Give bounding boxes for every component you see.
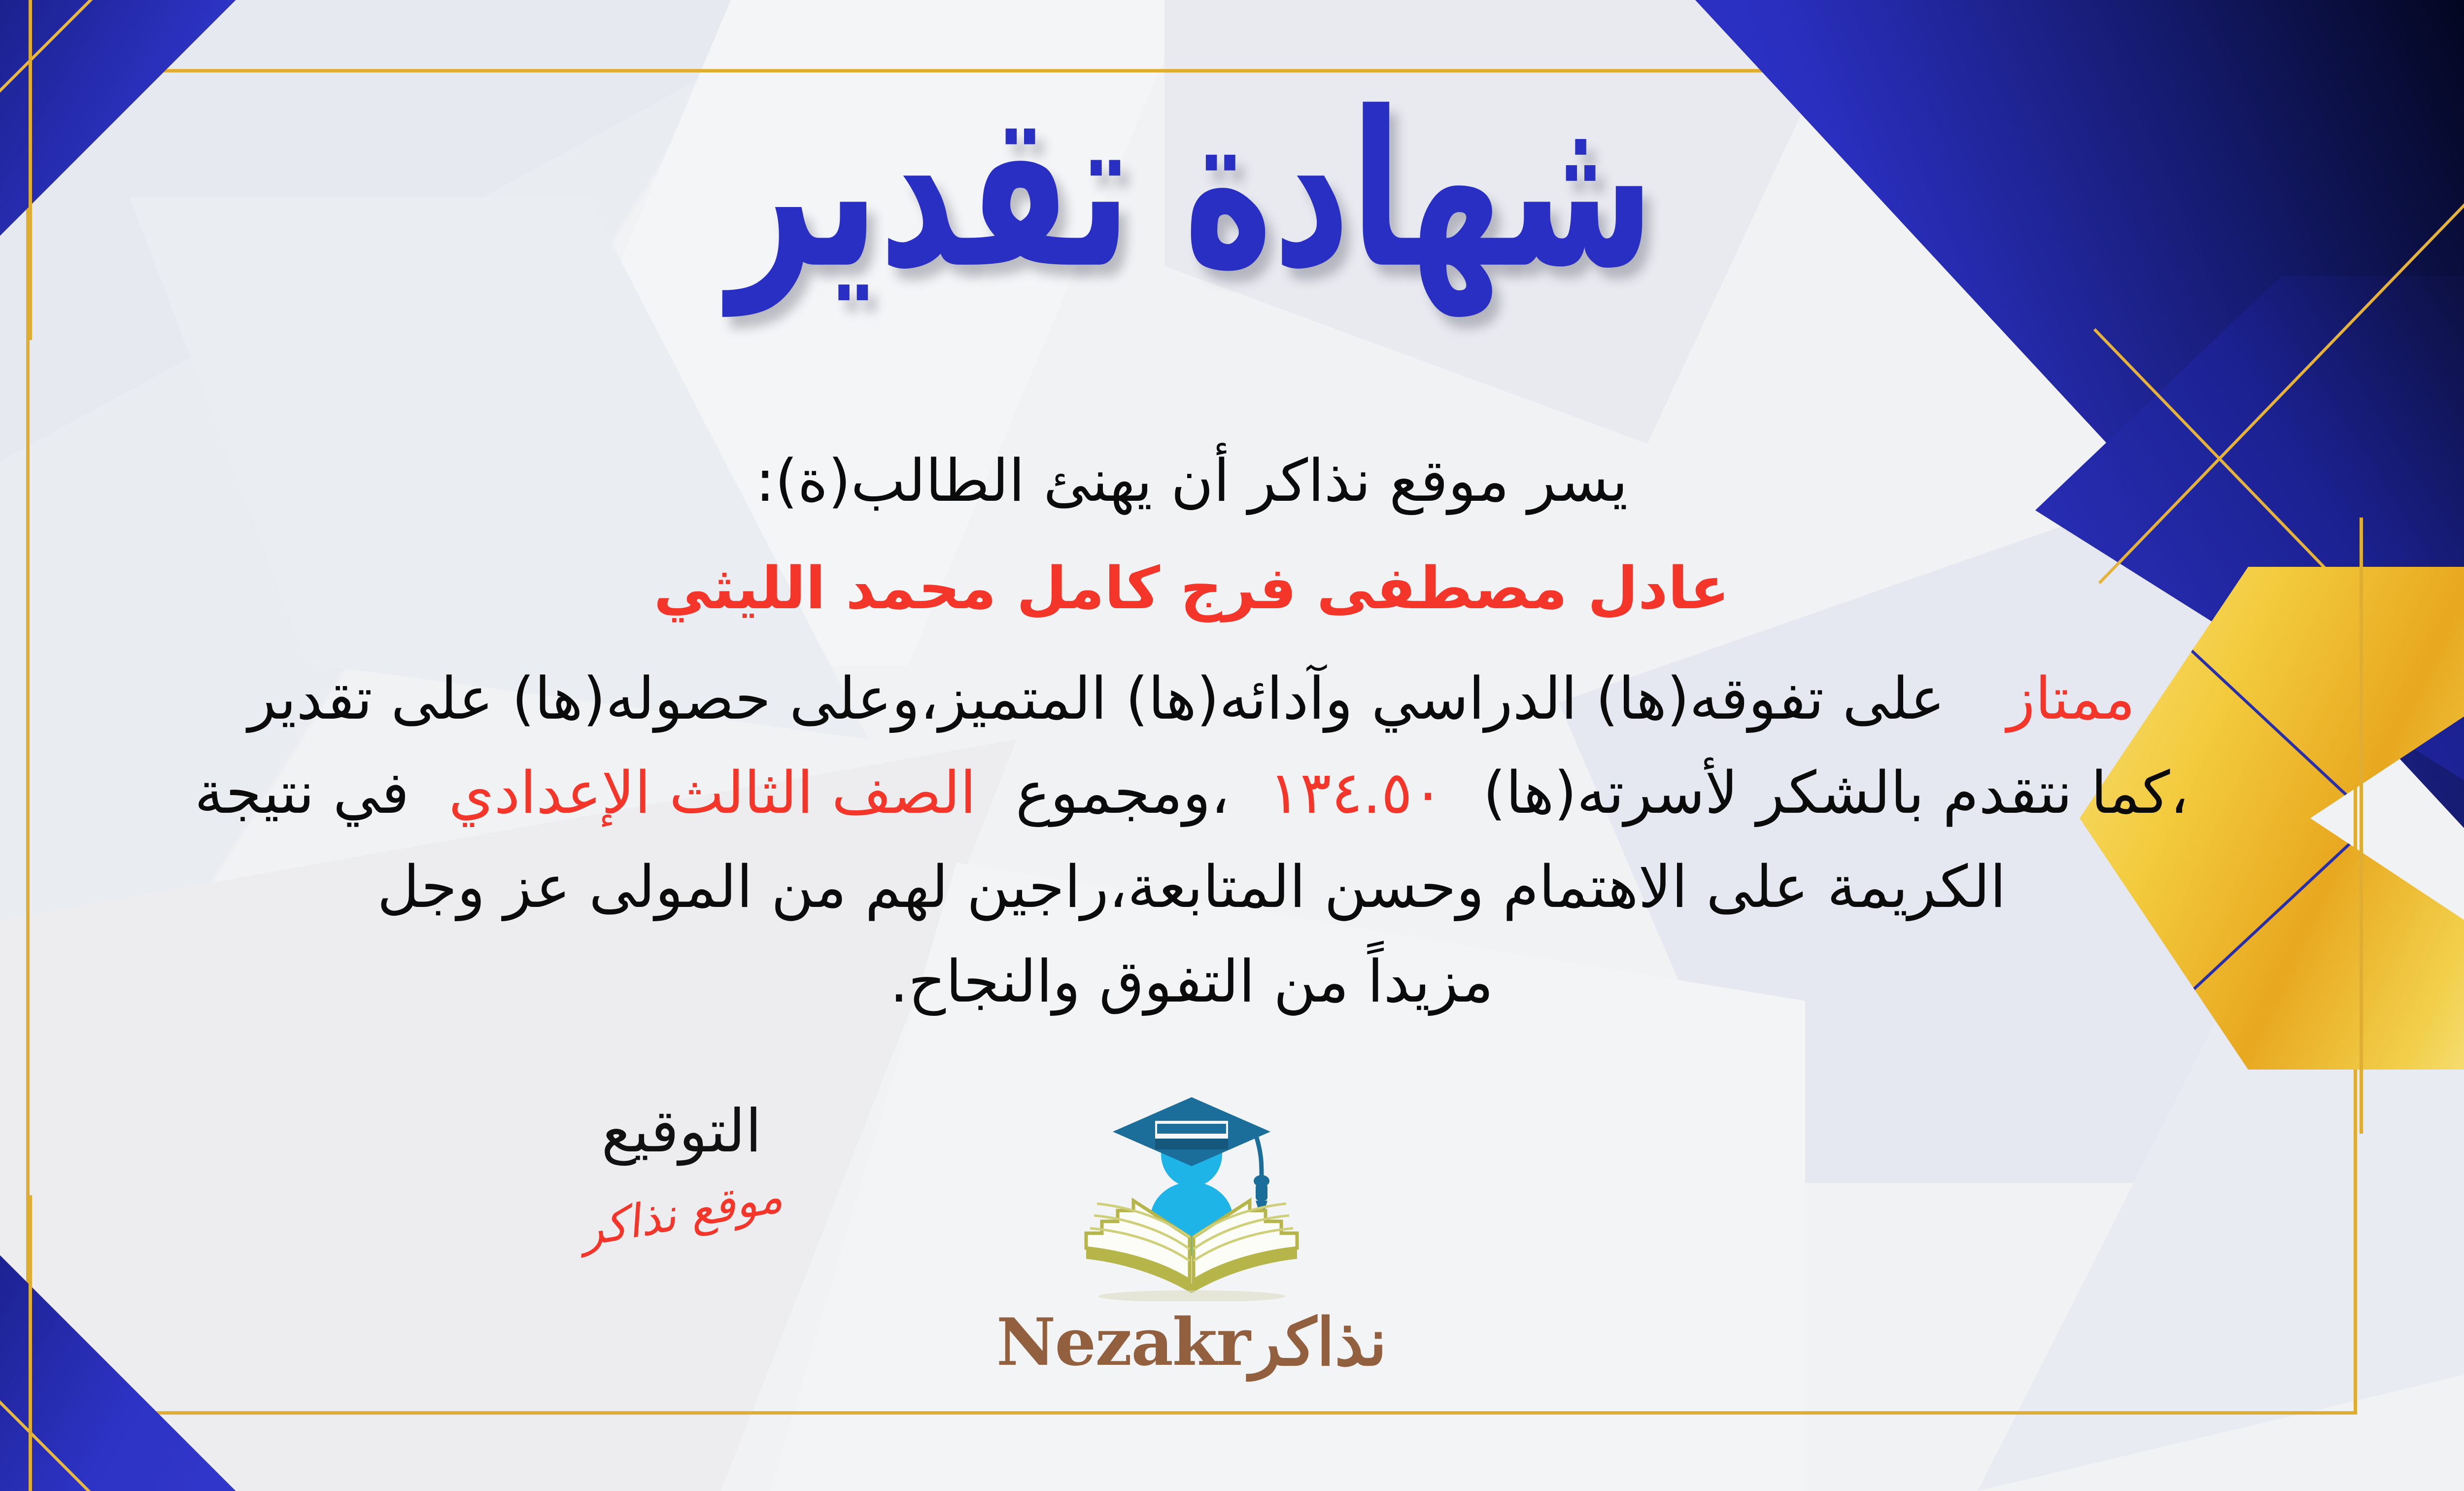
certificate-content: شهادة تقدير يسر موقع نذاكر أن يهنئ الطال… [41, 74, 2342, 1410]
logo-arabic: نذاكر [1250, 1304, 1387, 1381]
grade-label: ممتاز [2007, 664, 2135, 732]
line4-suffix: ،كما نتقدم بالشكر لأسرته(ها) [1483, 759, 2189, 827]
line4-prefix: في نتيجة [195, 759, 410, 827]
signature-block: التوقيع موقع نذاكر [494, 1099, 869, 1240]
gold-vertical-accent-right [2360, 518, 2363, 1134]
line4-middle: ،ومجموع [1016, 759, 1230, 827]
gold-vertical-accent-bottom-left [29, 1195, 32, 1491]
signature-label: التوقيع [494, 1099, 869, 1164]
certificate-body: يسر موقع نذاكر أن يهنئ الطالب(ة): عادل م… [41, 434, 2342, 1029]
achievement-text: على تفوقه(ها) الدراسي وآدائه(ها) المتميز… [248, 664, 1945, 732]
signature-mark: موقع نذاكر [577, 1170, 786, 1257]
stage-score-line: ،كما نتقدم بالشكر لأسرته(ها)١٣٤.٥٠،ومجمو… [41, 746, 2342, 840]
logo-latin: Nezakr [996, 1304, 1250, 1381]
graduate-book-logo-icon [1039, 1089, 1344, 1301]
intro-line: يسر موقع نذاكر أن يهنئ الطالب(ة): [41, 434, 2342, 528]
certificate-title: شهادة تقدير [18, 84, 2365, 298]
achievement-line: ممتازعلى تفوقه(ها) الدراسي وآدائه(ها) ال… [41, 652, 2342, 746]
thanks-line: الكريمة على الاهتمام وحسن المتابعة،راجين… [41, 840, 2342, 934]
logo-block: نذاكرNezakr [908, 1089, 1475, 1381]
closing-line: مزيداً من التفوق والنجاح. [41, 935, 2342, 1029]
stage-label: الصف الثالث الإعدادي [448, 759, 976, 827]
logo-wordmark: نذاكرNezakr [908, 1304, 1475, 1381]
student-name: عادل مصطفى فرج كامل محمد الليثي [41, 545, 2342, 632]
certificate-canvas: شهادة تقدير يسر موقع نذاكر أن يهنئ الطال… [0, 0, 2464, 1491]
total-score: ١٣٤.٥٠ [1269, 759, 1443, 827]
